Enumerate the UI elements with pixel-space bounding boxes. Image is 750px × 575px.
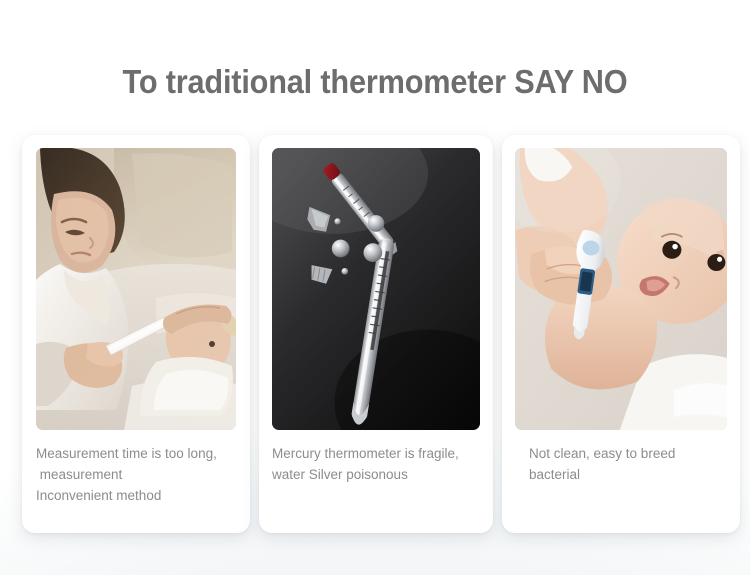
caption-line: Mercury thermometer is fragile, [272, 443, 483, 464]
card-measurement-time[interactable]: Measurement time is too long, measuremen… [22, 135, 250, 533]
photo-illustration-2 [272, 148, 480, 430]
broken-mercury-thermometer-photo [272, 148, 480, 430]
caption-line: measurement [36, 464, 240, 485]
caption-line: water Silver poisonous [272, 464, 483, 485]
photo-illustration-3 [515, 148, 727, 430]
card-caption: Mercury thermometer is fragile, water Si… [272, 443, 483, 485]
card-caption: Measurement time is too long, measuremen… [36, 443, 240, 506]
card-not-clean[interactable]: Not clean, easy to breed bacterial [502, 135, 740, 533]
caption-line: Not clean, easy to breed [529, 443, 730, 464]
mother-taking-baby-temperature-photo [36, 148, 236, 430]
feature-card-row: Measurement time is too long, measuremen… [22, 135, 740, 535]
card-caption: Not clean, easy to breed bacterial [529, 443, 730, 485]
page-title: To traditional thermometer SAY NO [26, 62, 724, 102]
baby-digital-thermometer-photo [515, 148, 727, 430]
caption-line: bacterial [529, 464, 730, 485]
photo-illustration-1 [36, 148, 236, 430]
caption-line: Inconvenient method [36, 485, 240, 506]
card-mercury-fragile[interactable]: Mercury thermometer is fragile, water Si… [259, 135, 493, 533]
caption-line: Measurement time is too long, [36, 443, 240, 464]
promo-banner: To traditional thermometer SAY NO [0, 0, 750, 575]
